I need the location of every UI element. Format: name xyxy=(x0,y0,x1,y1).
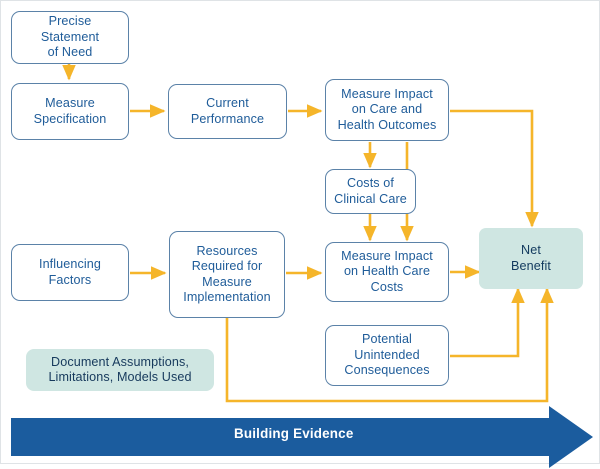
node-net-benefit[interactable]: Net Benefit xyxy=(479,228,583,289)
node-resources-required[interactable]: Resources Required for Measure Implement… xyxy=(169,231,285,318)
node-potential-unintended-consequences[interactable]: Potential Unintended Consequences xyxy=(325,325,449,386)
node-label: Potential Unintended Consequences xyxy=(344,332,429,378)
node-influencing-factors[interactable]: Influencing Factors xyxy=(11,244,129,301)
node-label: Document Assumptions, Limitations, Model… xyxy=(48,355,191,386)
node-label: Costs of Clinical Care xyxy=(334,176,407,207)
node-label: Measure Specification xyxy=(34,96,107,127)
node-measure-impact-care[interactable]: Measure Impact on Care and Health Outcom… xyxy=(325,79,449,141)
node-label: Resources Required for Measure Implement… xyxy=(183,244,271,306)
node-current-performance[interactable]: Current Performance xyxy=(168,84,287,139)
edge-impact-care-to-net-benefit xyxy=(450,111,532,226)
node-label: Measure Impact on Care and Health Outcom… xyxy=(338,87,437,133)
diagram-canvas: Precise Statement of Need Measure Specif… xyxy=(0,0,600,464)
banner-label: Building Evidence xyxy=(234,426,353,441)
edge-unintended-to-net-benefit xyxy=(450,289,518,356)
node-costs-of-clinical-care[interactable]: Costs of Clinical Care xyxy=(325,169,416,214)
node-label: Current Performance xyxy=(191,96,264,127)
node-label: Measure Impact on Health Care Costs xyxy=(341,249,433,295)
node-label: Precise Statement of Need xyxy=(41,14,99,60)
node-label: Influencing Factors xyxy=(39,257,101,288)
node-measure-specification[interactable]: Measure Specification xyxy=(11,83,129,140)
node-document-assumptions[interactable]: Document Assumptions, Limitations, Model… xyxy=(26,349,214,391)
node-precise-statement-of-need[interactable]: Precise Statement of Need xyxy=(11,11,129,64)
node-label: Net Benefit xyxy=(511,243,551,274)
node-measure-impact-costs[interactable]: Measure Impact on Health Care Costs xyxy=(325,242,449,302)
